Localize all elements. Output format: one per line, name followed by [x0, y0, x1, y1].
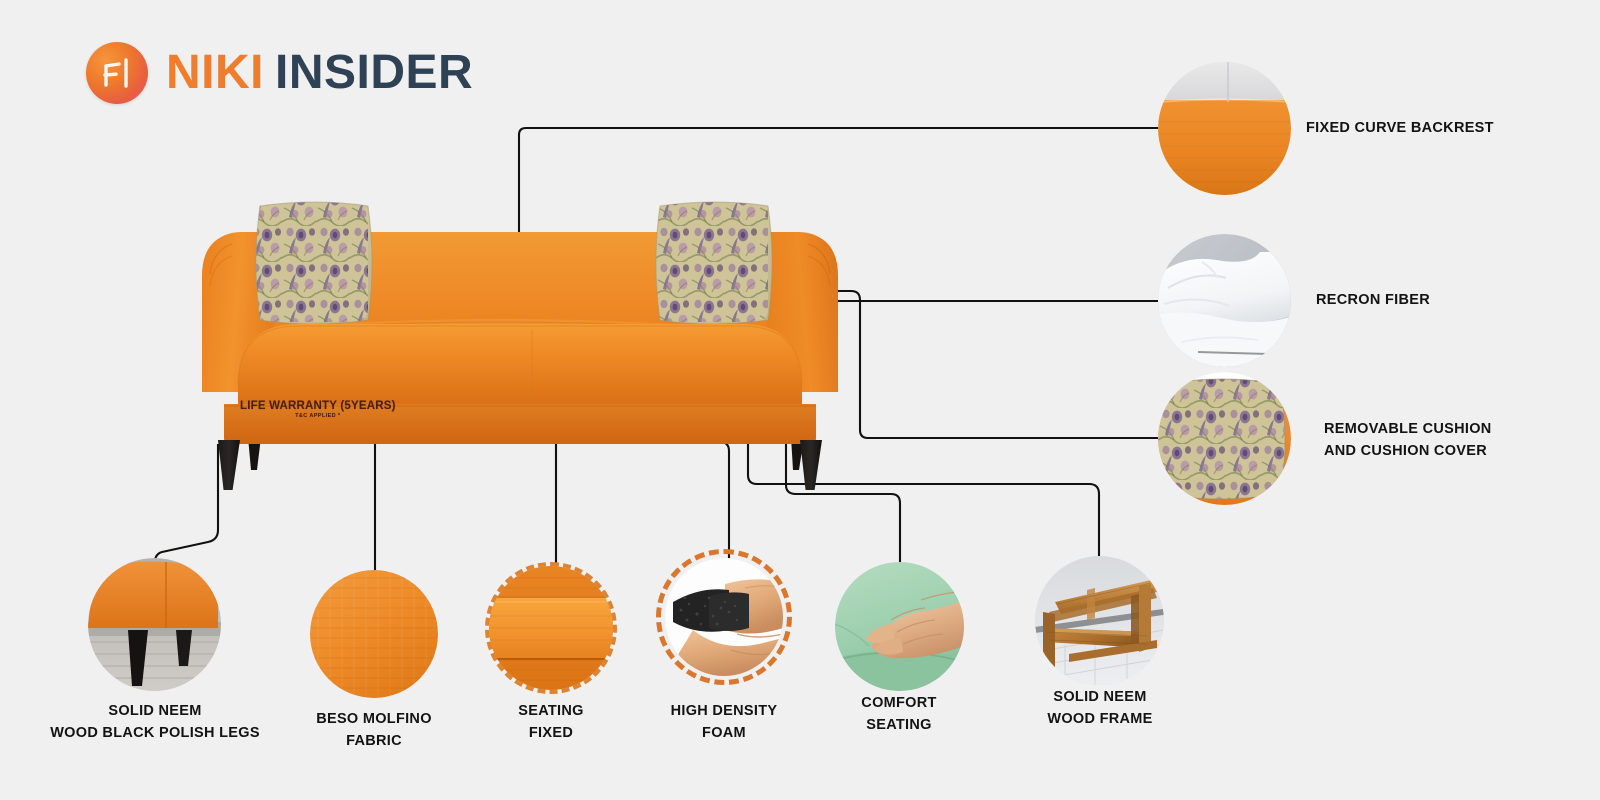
brand-name-secondary: INSIDER	[275, 46, 473, 99]
callout-label-removable-cushion: REMOVABLE CUSHION AND CUSHION COVER	[1324, 418, 1600, 463]
orange-molfino-fabric-swatch-thumb	[310, 570, 438, 698]
brand-logo: NIKIINSIDER	[86, 42, 473, 104]
fi-monogram-icon	[86, 42, 148, 104]
black-tapered-legs-closeup-thumb	[88, 558, 221, 691]
callout-label-recron-fiber: RECRON FIBER	[1316, 289, 1600, 311]
infographic-canvas: NIKIINSIDER	[0, 0, 1600, 800]
sofa-cushion-left	[256, 202, 372, 324]
warranty-note: T&C APPLIED *	[240, 413, 396, 419]
sofa-seat	[238, 324, 802, 408]
backrest-fabric-closeup-thumb	[1158, 62, 1291, 195]
brand-name-primary: NIKI	[166, 46, 264, 99]
hand-squeezing-black-foam-thumb	[665, 558, 783, 676]
sofa-leg-front-left	[218, 440, 240, 490]
warranty-stamp: LIFE WARRANTY (5YEARS) T&C APPLIED *	[240, 400, 396, 419]
warranty-text: LIFE WARRANTY (5YEARS)	[240, 400, 396, 412]
sofa-illustration	[180, 190, 860, 490]
floral-cushion-closeup-thumb	[1158, 372, 1291, 505]
callout-label-solid-neem-wood-frame: SOLID NEEM WOOD FRAME	[972, 686, 1228, 731]
white-fiber-filling-closeup-thumb	[1158, 234, 1291, 367]
wooden-sofa-frame-closeup-thumb	[1035, 556, 1164, 685]
fi-monogram-glyph	[86, 42, 148, 104]
brand-wordmark: NIKIINSIDER	[166, 49, 473, 97]
sofa-cushion-right	[656, 202, 772, 324]
callout-label-fixed-curve-backrest: FIXED CURVE BACKREST	[1306, 117, 1600, 139]
hand-pressing-green-foam-thumb	[835, 562, 964, 691]
sofa-leg-front-right	[800, 440, 822, 490]
sofa-product-image	[180, 190, 860, 490]
fixed-seat-closeup-thumb	[489, 566, 613, 690]
